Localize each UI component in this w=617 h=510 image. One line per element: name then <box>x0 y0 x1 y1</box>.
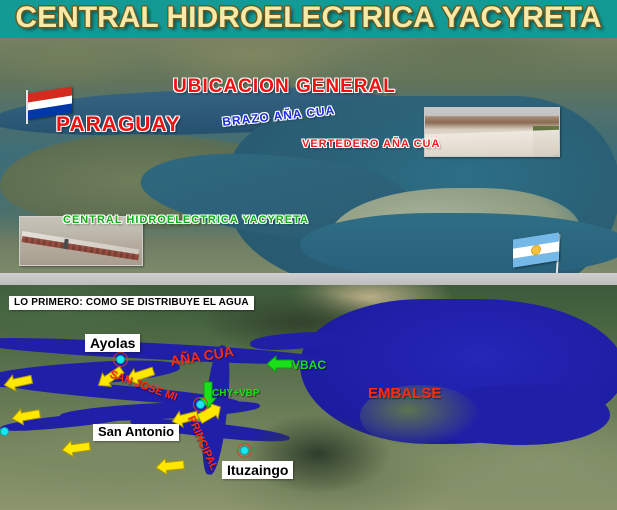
bottom-panel-heading: LO PRIMERO: COMO SE DISTRIBUYE EL AGUA <box>9 296 254 310</box>
title-bar: CENTRAL HIDROELECTRICA YACYRETA <box>0 0 617 38</box>
station-dot-sanantonio <box>196 400 205 409</box>
spillway-photo-inset <box>424 107 560 157</box>
feature-label-central-hidroelectrica: CENTRAL HIDROELECTRICA YACYRETA <box>63 214 309 226</box>
river-channel-lower <box>300 213 617 273</box>
flow-arrow-yellow-2 <box>12 408 42 428</box>
flow-arrow-green-vbac <box>267 356 293 372</box>
place-label-ayolas: Ayolas <box>85 334 140 352</box>
flow-arrow-yellow-1 <box>4 374 34 394</box>
place-label-san-antonio: San Antonio <box>93 424 179 441</box>
station-dot-ayolas <box>116 355 125 364</box>
panel-divider <box>0 273 617 285</box>
country-label-paraguay: PARAGUAY <box>56 113 181 137</box>
feature-label-embalse: EMBALSE <box>368 385 441 402</box>
top-map-panel: UBICACION GENERAL PARAGUAY BRAZO AÑA CUA… <box>0 38 617 273</box>
bottom-map-panel <box>0 285 617 510</box>
feature-label-vbac: VBAC <box>292 358 326 372</box>
feature-label-chy-vbp: CHY+VBP <box>212 388 260 399</box>
station-dot-ituzaingo <box>240 446 249 455</box>
top-panel-heading: UBICACION GENERAL <box>173 76 396 98</box>
feature-label-vertedero-ana-cua: VERTEDERO AÑA CUA <box>302 138 440 150</box>
page-title: CENTRAL HIDROELECTRICA YACYRETA <box>0 1 617 35</box>
station-dot-west <box>0 427 9 436</box>
forest-area-south <box>245 415 390 493</box>
flow-arrow-yellow-3 <box>62 440 92 460</box>
flow-arrow-yellow-4 <box>156 458 186 478</box>
screenshot-root: CENTRAL HIDROELECTRICA YACYRETA <box>0 0 617 510</box>
place-label-ituzaingo: Ituzaingo <box>222 461 293 479</box>
